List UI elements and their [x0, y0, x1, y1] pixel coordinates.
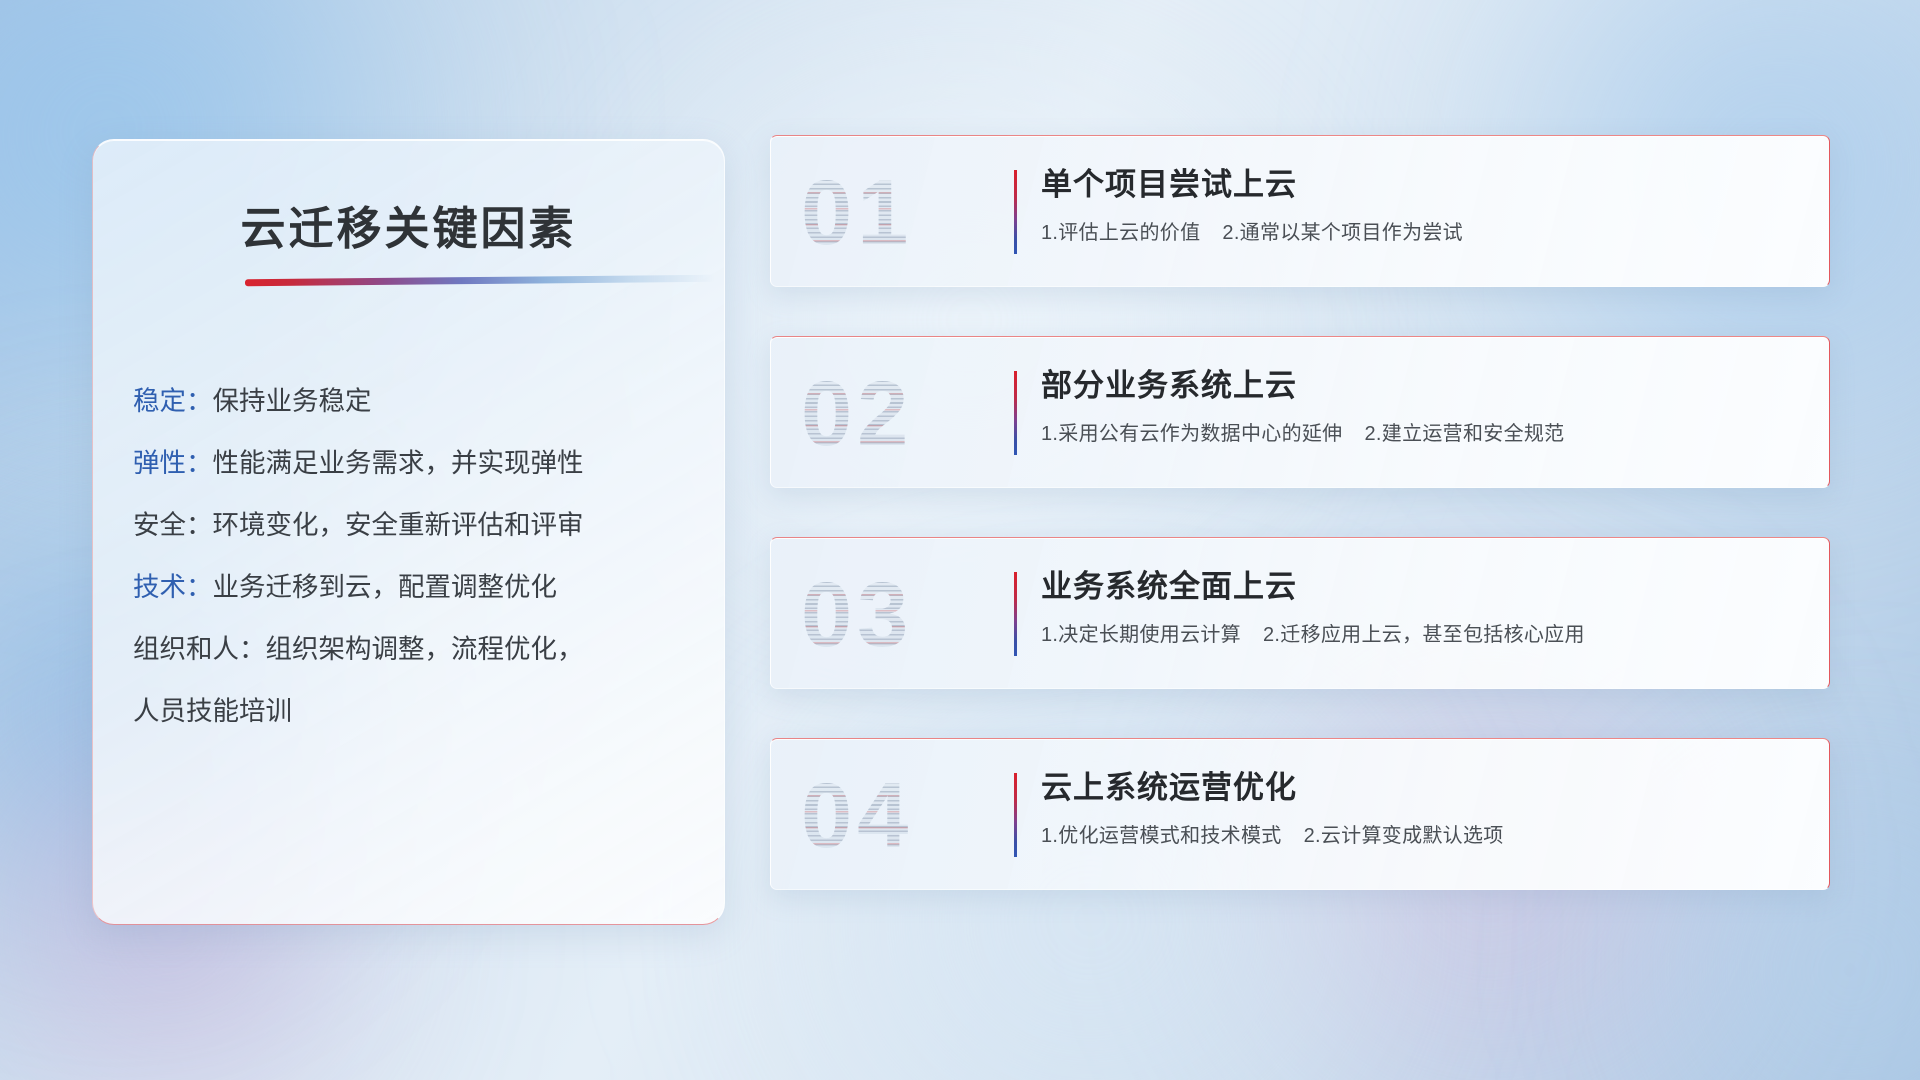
card-text-block: 部分业务系统上云1.采用公有云作为数据中心的延伸2.建立运营和安全规范 — [1041, 365, 1805, 448]
factor-row: 组织和人：组织架构调整，流程优化， — [133, 618, 694, 680]
card-title: 单个项目尝试上云 — [1041, 164, 1805, 206]
page-title: 云迁移关键因素 — [93, 192, 724, 257]
factor-row: 弹性：性能满足业务需求，并实现弹性 — [133, 432, 694, 494]
card-description: 1.优化运营模式和技术模式2.云计算变成默认选项 — [1041, 822, 1805, 850]
factor-list: 稳定：保持业务稳定弹性：性能满足业务需求，并实现弹性安全：环境变化，安全重新评估… — [133, 370, 694, 742]
stage-card[interactable]: 0202部分业务系统上云1.采用公有云作为数据中心的延伸2.建立运营和安全规范 — [770, 336, 1830, 488]
card-text-block: 单个项目尝试上云1.评估上云的价值2.通常以某个项目作为尝试 — [1041, 164, 1805, 247]
card-accent-divider — [1014, 170, 1017, 254]
factor-label: 弹性： — [133, 448, 213, 478]
card-description-item-1: 1.决定长期使用云计算 — [1041, 624, 1241, 646]
card-title: 云上系统运营优化 — [1041, 767, 1805, 809]
card-description-item-1: 1.评估上云的价值 — [1041, 222, 1200, 244]
card-description-item-2: 2.建立运营和安全规范 — [1364, 423, 1564, 445]
stage-number: 04 — [801, 747, 913, 885]
card-description: 1.采用公有云作为数据中心的延伸2.建立运营和安全规范 — [1041, 420, 1805, 448]
factor-row: 安全：环境变化，安全重新评估和评审 — [133, 494, 694, 556]
factor-description: 业务迁移到云，配置调整优化 — [213, 572, 558, 602]
title-underline-gradient — [245, 275, 715, 287]
card-accent-divider — [1014, 773, 1017, 857]
stage-card[interactable]: 0101单个项目尝试上云1.评估上云的价值2.通常以某个项目作为尝试 — [770, 135, 1830, 287]
factor-label: 技术： — [133, 572, 213, 602]
factor-row: 稳定：保持业务稳定 — [133, 370, 694, 432]
card-description-item-1: 1.采用公有云作为数据中心的延伸 — [1041, 423, 1342, 445]
card-accent-divider — [1014, 371, 1017, 455]
factor-description: 人员技能培训 — [133, 696, 292, 726]
card-title: 部分业务系统上云 — [1041, 365, 1805, 407]
factor-description: 保持业务稳定 — [213, 386, 372, 416]
stage-card[interactable]: 0404云上系统运营优化1.优化运营模式和技术模式2.云计算变成默认选项 — [770, 738, 1830, 890]
stage-number: 01 — [801, 144, 913, 282]
card-title: 业务系统全面上云 — [1041, 566, 1805, 608]
factor-row: 技术：业务迁移到云，配置调整优化 — [133, 556, 694, 618]
key-factors-panel: 云迁移关键因素 稳定：保持业务稳定弹性：性能满足业务需求，并实现弹性安全：环境变… — [92, 139, 725, 925]
stage-number: 02 — [801, 345, 913, 483]
card-text-block: 云上系统运营优化1.优化运营模式和技术模式2.云计算变成默认选项 — [1041, 767, 1805, 850]
factor-label: 稳定： — [133, 386, 213, 416]
stage-card-list: 0101单个项目尝试上云1.评估上云的价值2.通常以某个项目作为尝试0202部分… — [770, 135, 1830, 890]
card-description-item-2: 2.迁移应用上云，甚至包括核心应用 — [1263, 624, 1585, 646]
card-text-block: 业务系统全面上云1.决定长期使用云计算2.迁移应用上云，甚至包括核心应用 — [1041, 566, 1805, 649]
factor-row: 人员技能培训 — [133, 680, 694, 742]
card-accent-divider — [1014, 572, 1017, 656]
factor-description: 性能满足业务需求，并实现弹性 — [213, 448, 584, 478]
card-description: 1.决定长期使用云计算2.迁移应用上云，甚至包括核心应用 — [1041, 621, 1805, 649]
slide-stage: 云迁移关键因素 稳定：保持业务稳定弹性：性能满足业务需求，并实现弹性安全：环境变… — [0, 0, 1920, 1080]
card-description: 1.评估上云的价值2.通常以某个项目作为尝试 — [1041, 219, 1805, 247]
factor-label: 组织和人： — [133, 634, 266, 664]
card-description-item-2: 2.通常以某个项目作为尝试 — [1222, 222, 1463, 244]
card-description-item-1: 1.优化运营模式和技术模式 — [1041, 825, 1282, 847]
card-description-item-2: 2.云计算变成默认选项 — [1304, 825, 1504, 847]
factor-label: 安全： — [133, 510, 213, 540]
stage-card[interactable]: 0303业务系统全面上云1.决定长期使用云计算2.迁移应用上云，甚至包括核心应用 — [770, 537, 1830, 689]
stage-number: 03 — [801, 546, 913, 684]
factor-description: 组织架构调整，流程优化， — [266, 634, 584, 664]
factor-description: 环境变化，安全重新评估和评审 — [213, 510, 584, 540]
